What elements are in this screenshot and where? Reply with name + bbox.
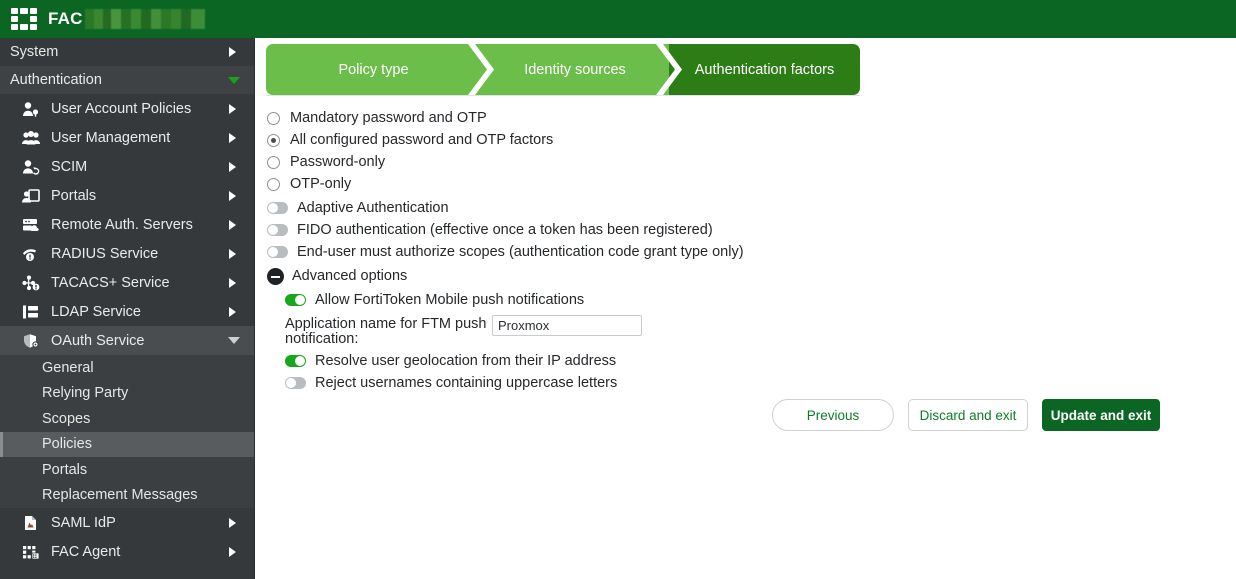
chevron-right-icon	[229, 278, 236, 288]
auth-factor-radio-group: Mandatory password and OTP All configure…	[267, 107, 1236, 195]
document-saml-icon	[20, 514, 42, 532]
portal-window-icon	[20, 187, 42, 205]
oauth-subnav: General Relying Party Scopes Policies Po…	[0, 355, 254, 508]
sidebar-item-label: User Account Policies	[51, 101, 191, 117]
chevron-right-icon	[229, 547, 236, 557]
toggle-label: Resolve user geolocation from their IP a…	[315, 353, 616, 369]
ftm-application-name-label: Application name for FTM push notificati…	[285, 315, 492, 347]
chevron-right-icon	[229, 133, 236, 143]
toggle-row-reject-uppercase-usernames[interactable]: Reject usernames containing uppercase le…	[285, 372, 1236, 394]
wizard-step-authentication-factors[interactable]: Authentication factors	[669, 44, 860, 95]
server-cloud-icon	[20, 216, 42, 234]
previous-button[interactable]: Previous	[772, 399, 894, 431]
toggle-label: Adaptive Authentication	[297, 200, 449, 216]
toggle-switch-on-icon[interactable]	[285, 355, 306, 367]
main-content: Policy type Identity sources Authenticat…	[255, 38, 1236, 579]
sidebar-subitem-label: Scopes	[42, 411, 90, 427]
sidebar-item-label: SCIM	[51, 159, 87, 175]
radio-icon[interactable]	[267, 112, 280, 125]
chevron-down-icon	[228, 77, 240, 84]
sidebar-subitem-label: Replacement Messages	[42, 487, 198, 503]
toggle-switch-off-icon[interactable]	[267, 224, 288, 236]
sidebar-item-label: SAML IdP	[51, 515, 116, 531]
toggle-switch-on-icon[interactable]	[285, 294, 306, 306]
chevron-right-icon	[229, 307, 236, 317]
radius-signal-icon	[20, 245, 42, 263]
toggle-label: Allow FortiToken Mobile push notificatio…	[315, 292, 584, 308]
sidebar-section-system-label: System	[10, 44, 58, 60]
wizard-step-policy-type[interactable]: Policy type	[266, 44, 481, 95]
wizard-step-label: Identity sources	[524, 62, 626, 78]
radio-option-label: Password-only	[290, 154, 385, 170]
sidebar-item-label: LDAP Service	[51, 304, 141, 320]
chevron-right-icon	[229, 47, 236, 57]
radio-icon-selected[interactable]	[267, 134, 280, 147]
sidebar-subitem-label: Policies	[42, 436, 92, 452]
sidebar-item-scim[interactable]: SCIM	[0, 152, 254, 181]
sidebar-item-saml-idp[interactable]: SAML IdP	[0, 508, 254, 537]
form-action-buttons: Previous Discard and exit Update and exi…	[772, 399, 1160, 431]
sidebar-item-user-account-policies[interactable]: User Account Policies	[0, 94, 254, 123]
redacted-hostname	[85, 9, 205, 29]
sidebar-item-label: TACACS+ Service	[51, 275, 170, 291]
chevron-down-icon	[228, 337, 240, 344]
sidebar-item-label: User Management	[51, 130, 170, 146]
sidebar-item-label: Portals	[51, 188, 96, 204]
sidebar-subitem-replacement-messages[interactable]: Replacement Messages	[0, 483, 254, 509]
toggle-row-allow-fortitoken-push[interactable]: Allow FortiToken Mobile push notificatio…	[285, 289, 1236, 311]
sidebar-item-label: RADIUS Service	[51, 246, 158, 262]
discard-and-exit-button[interactable]: Discard and exit	[908, 399, 1028, 431]
sidebar-item-fac-agent[interactable]: FAC Agent	[0, 537, 254, 566]
radio-option-mandatory-password-and-otp[interactable]: Mandatory password and OTP	[267, 107, 1236, 129]
advanced-options-body: Allow FortiToken Mobile push notificatio…	[267, 289, 1236, 311]
minus-circle-collapse-icon[interactable]	[267, 268, 284, 285]
sidebar-subitem-general[interactable]: General	[0, 355, 254, 381]
sidebar-nav[interactable]: System Authentication User Account Polic…	[0, 38, 255, 579]
user-edit-icon	[20, 100, 42, 118]
chevron-right-icon	[229, 191, 236, 201]
toggle-label: Reject usernames containing uppercase le…	[315, 375, 617, 391]
wizard-step-label: Authentication factors	[695, 62, 834, 78]
toggle-switch-off-icon[interactable]	[267, 246, 288, 258]
toggle-switch-off-icon[interactable]	[285, 377, 306, 389]
sidebar-item-remote-auth-servers[interactable]: Remote Auth. Servers	[0, 210, 254, 239]
sidebar-subitem-relying-party[interactable]: Relying Party	[0, 381, 254, 407]
sidebar-item-label: FAC Agent	[51, 544, 120, 560]
sidebar-subitem-scopes[interactable]: Scopes	[0, 406, 254, 432]
advanced-options-header[interactable]: Advanced options	[267, 263, 1236, 289]
grid-waffle-icon[interactable]	[11, 8, 37, 30]
sidebar-item-ldap-service[interactable]: LDAP Service	[0, 297, 254, 326]
application-window: FAC System Authentication User Account P…	[0, 0, 1236, 579]
radio-option-otp-only[interactable]: OTP-only	[267, 173, 1236, 195]
sidebar-item-label: Remote Auth. Servers	[51, 217, 193, 233]
chevron-right-icon	[229, 518, 236, 528]
toggle-label: End-user must authorize scopes (authenti…	[297, 244, 744, 260]
chevron-right-icon	[229, 249, 236, 259]
sidebar-item-tacacs-service[interactable]: TACACS+ Service	[0, 268, 254, 297]
toggle-switch-off-icon[interactable]	[267, 202, 288, 214]
toggle-row-fido-authentication[interactable]: FIDO authentication (effective once a to…	[267, 219, 1236, 241]
advanced-options-body-2: Resolve user geolocation from their IP a…	[267, 350, 1236, 394]
advanced-options-label: Advanced options	[292, 268, 407, 284]
radio-option-label: OTP-only	[290, 176, 351, 192]
toggle-row-end-user-authorize-scopes[interactable]: End-user must authorize scopes (authenti…	[267, 241, 1236, 263]
ftm-application-name-input[interactable]	[492, 315, 642, 336]
sidebar-subitem-policies[interactable]: Policies	[0, 432, 254, 458]
network-nodes-icon	[20, 274, 42, 292]
toggle-label: FIDO authentication (effective once a to…	[297, 222, 713, 238]
radio-option-label: All configured password and OTP factors	[290, 132, 553, 148]
users-group-icon	[20, 129, 42, 147]
chevron-right-icon	[229, 220, 236, 230]
sidebar-subitem-label: Portals	[42, 462, 87, 478]
user-sync-icon	[20, 158, 42, 176]
ftm-application-name-field-row: Application name for FTM push notificati…	[267, 315, 1236, 347]
toggle-row-resolve-user-geolocation[interactable]: Resolve user geolocation from their IP a…	[285, 350, 1236, 372]
sidebar-item-user-management[interactable]: User Management	[0, 123, 254, 152]
wizard-step-identity-sources[interactable]: Identity sources	[481, 44, 669, 95]
chevron-right-icon	[229, 162, 236, 172]
radio-icon[interactable]	[267, 156, 280, 169]
radio-option-password-only[interactable]: Password-only	[267, 151, 1236, 173]
radio-option-label: Mandatory password and OTP	[290, 110, 487, 126]
sidebar-subitem-label: General	[42, 360, 94, 376]
update-and-exit-button[interactable]: Update and exit	[1042, 399, 1160, 431]
radio-icon[interactable]	[267, 178, 280, 191]
wizard-step-label: Policy type	[338, 62, 408, 78]
sidebar-subitem-portals[interactable]: Portals	[0, 457, 254, 483]
agent-grid-icon	[20, 543, 42, 561]
sidebar-section-authentication[interactable]: Authentication	[0, 66, 254, 94]
chevron-right-icon	[229, 104, 236, 114]
brand-title: FAC	[48, 9, 83, 29]
sidebar-subitem-label: Relying Party	[42, 385, 128, 401]
sidebar-section-authentication-label: Authentication	[10, 72, 102, 88]
sidebar-item-oauth-service[interactable]: OAuth Service	[0, 326, 254, 355]
wizard-stepper: Policy type Identity sources Authenticat…	[266, 44, 860, 95]
toggle-row-adaptive-authentication[interactable]: Adaptive Authentication	[267, 197, 1236, 219]
sidebar-item-radius-service[interactable]: RADIUS Service	[0, 239, 254, 268]
ldap-tree-icon	[20, 303, 42, 321]
authentication-factors-form: Mandatory password and OTP All configure…	[255, 96, 1236, 394]
top-header-bar: FAC	[0, 0, 1236, 38]
feature-toggles-group: Adaptive Authentication FIDO authenticat…	[267, 197, 1236, 263]
sidebar-item-portals[interactable]: Portals	[0, 181, 254, 210]
sidebar-item-label: OAuth Service	[51, 333, 145, 349]
oauth-shield-key-icon	[20, 332, 42, 350]
radio-option-all-configured-password-and-otp-factors[interactable]: All configured password and OTP factors	[267, 129, 1236, 151]
sidebar-section-system[interactable]: System	[0, 38, 254, 66]
